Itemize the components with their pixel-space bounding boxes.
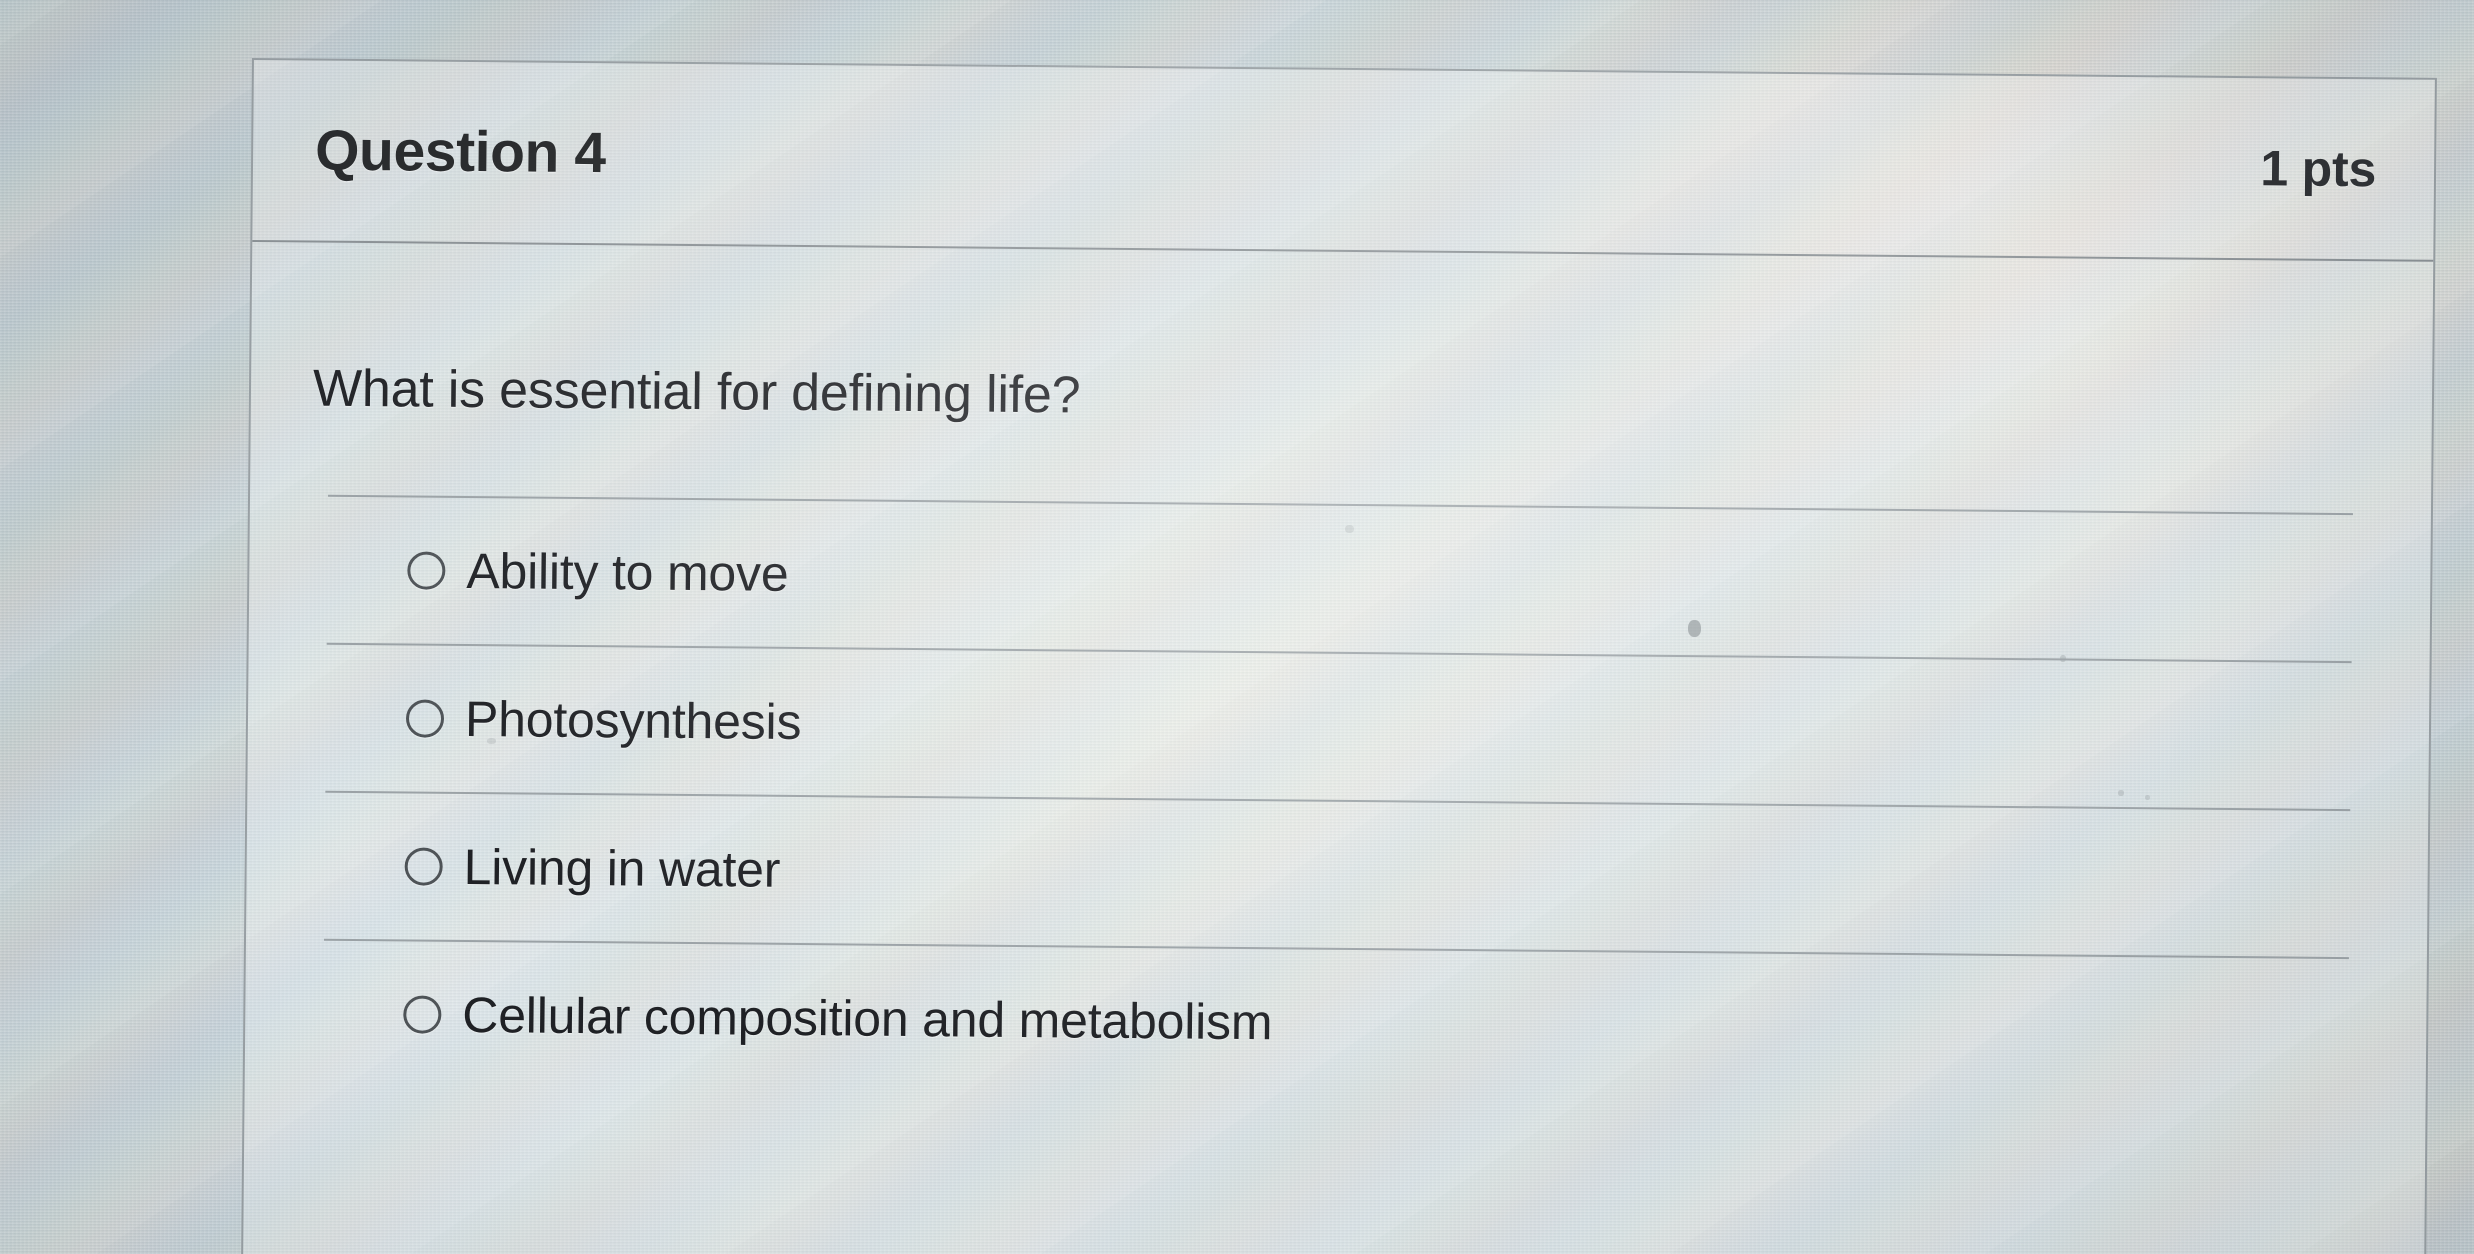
- answer-option-row[interactable]: Cellular composition and metabolism: [323, 939, 2349, 1105]
- answer-option-label: Living in water: [463, 838, 780, 899]
- answer-option-row[interactable]: Photosynthesis: [325, 643, 2351, 809]
- radio-unchecked-icon[interactable]: [403, 995, 441, 1033]
- screen-photo-surface: Question 4 1 pts What is essential for d…: [0, 0, 2474, 1254]
- question-card: Question 4 1 pts What is essential for d…: [241, 58, 2437, 1254]
- radio-unchecked-icon[interactable]: [407, 551, 445, 589]
- answer-option-row[interactable]: Living in water: [324, 791, 2350, 957]
- question-title: Question 4: [315, 118, 606, 187]
- radio-unchecked-icon[interactable]: [404, 847, 442, 885]
- radio-unchecked-icon[interactable]: [406, 699, 444, 737]
- question-header: Question 4 1 pts: [252, 60, 2435, 262]
- answer-option-row[interactable]: Ability to move: [327, 495, 2353, 661]
- answer-option-label: Cellular composition and metabolism: [462, 986, 1273, 1051]
- question-body: What is essential for defining life? Abi…: [243, 242, 2434, 1254]
- answer-option-label: Ability to move: [466, 542, 789, 603]
- answer-option-label: Photosynthesis: [465, 690, 802, 751]
- question-points-badge: 1 pts: [2260, 139, 2376, 198]
- answers-list: Ability to move Photosynthesis Living in…: [245, 494, 2431, 1106]
- question-prompt-text: What is essential for defining life?: [251, 242, 2434, 438]
